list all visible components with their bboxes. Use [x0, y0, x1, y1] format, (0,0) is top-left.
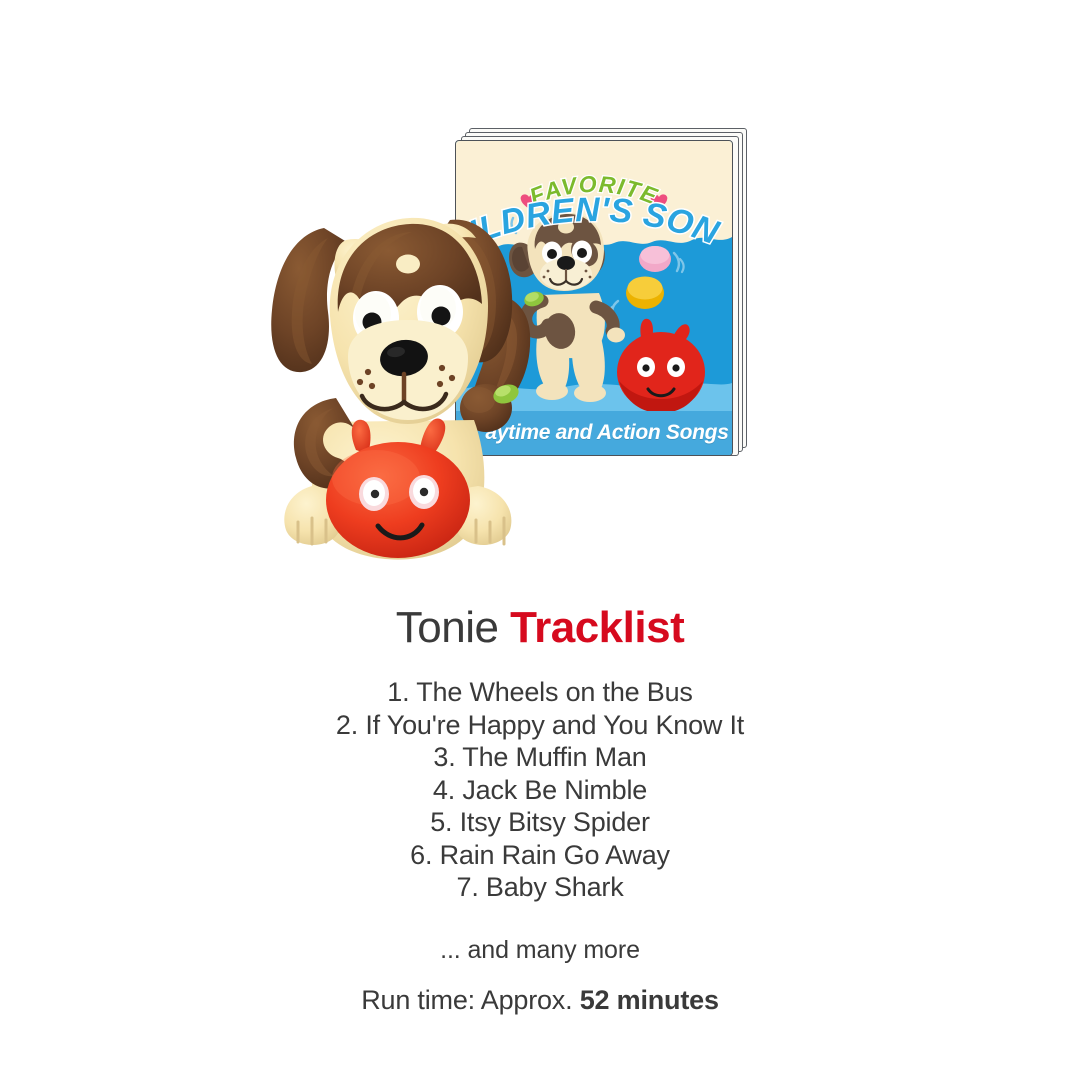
tracklist-section: Tonie Tracklist 1. The Wheels on the Bus…	[0, 606, 1080, 1016]
page-title-plain: Tonie	[396, 603, 499, 652]
product-listing-page: FAVORITE CHILDREN'S SONGS aytime and Act…	[0, 0, 1080, 1080]
figurine-illustration	[228, 186, 588, 586]
cover-bug-illustration	[617, 319, 705, 413]
list-item: 2. If You're Happy and You Know It	[0, 709, 1080, 742]
list-item: 7. Baby Shark	[0, 871, 1080, 904]
tonie-dog-figurine	[228, 186, 588, 586]
list-item: 3. The Muffin Man	[0, 741, 1080, 774]
product-photo: FAVORITE CHILDREN'S SONGS aytime and Act…	[0, 0, 1080, 600]
yellow-ball-illustration	[608, 277, 664, 320]
run-time: Run time: Approx. 52 minutes	[0, 985, 1080, 1016]
page-title-accent: Tracklist	[510, 603, 684, 652]
page-title: Tonie Tracklist	[0, 606, 1080, 650]
run-time-value: 52 minutes	[580, 985, 719, 1015]
list-item: 5. Itsy Bitsy Spider	[0, 806, 1080, 839]
list-item: 1. The Wheels on the Bus	[0, 676, 1080, 709]
run-time-label: Run time: Approx.	[361, 985, 580, 1015]
track-list: 1. The Wheels on the Bus 2. If You're Ha…	[0, 676, 1080, 904]
list-item: 6. Rain Rain Go Away	[0, 839, 1080, 872]
list-item: 4. Jack Be Nimble	[0, 774, 1080, 807]
and-many-more-note: ... and many more	[0, 936, 1080, 965]
